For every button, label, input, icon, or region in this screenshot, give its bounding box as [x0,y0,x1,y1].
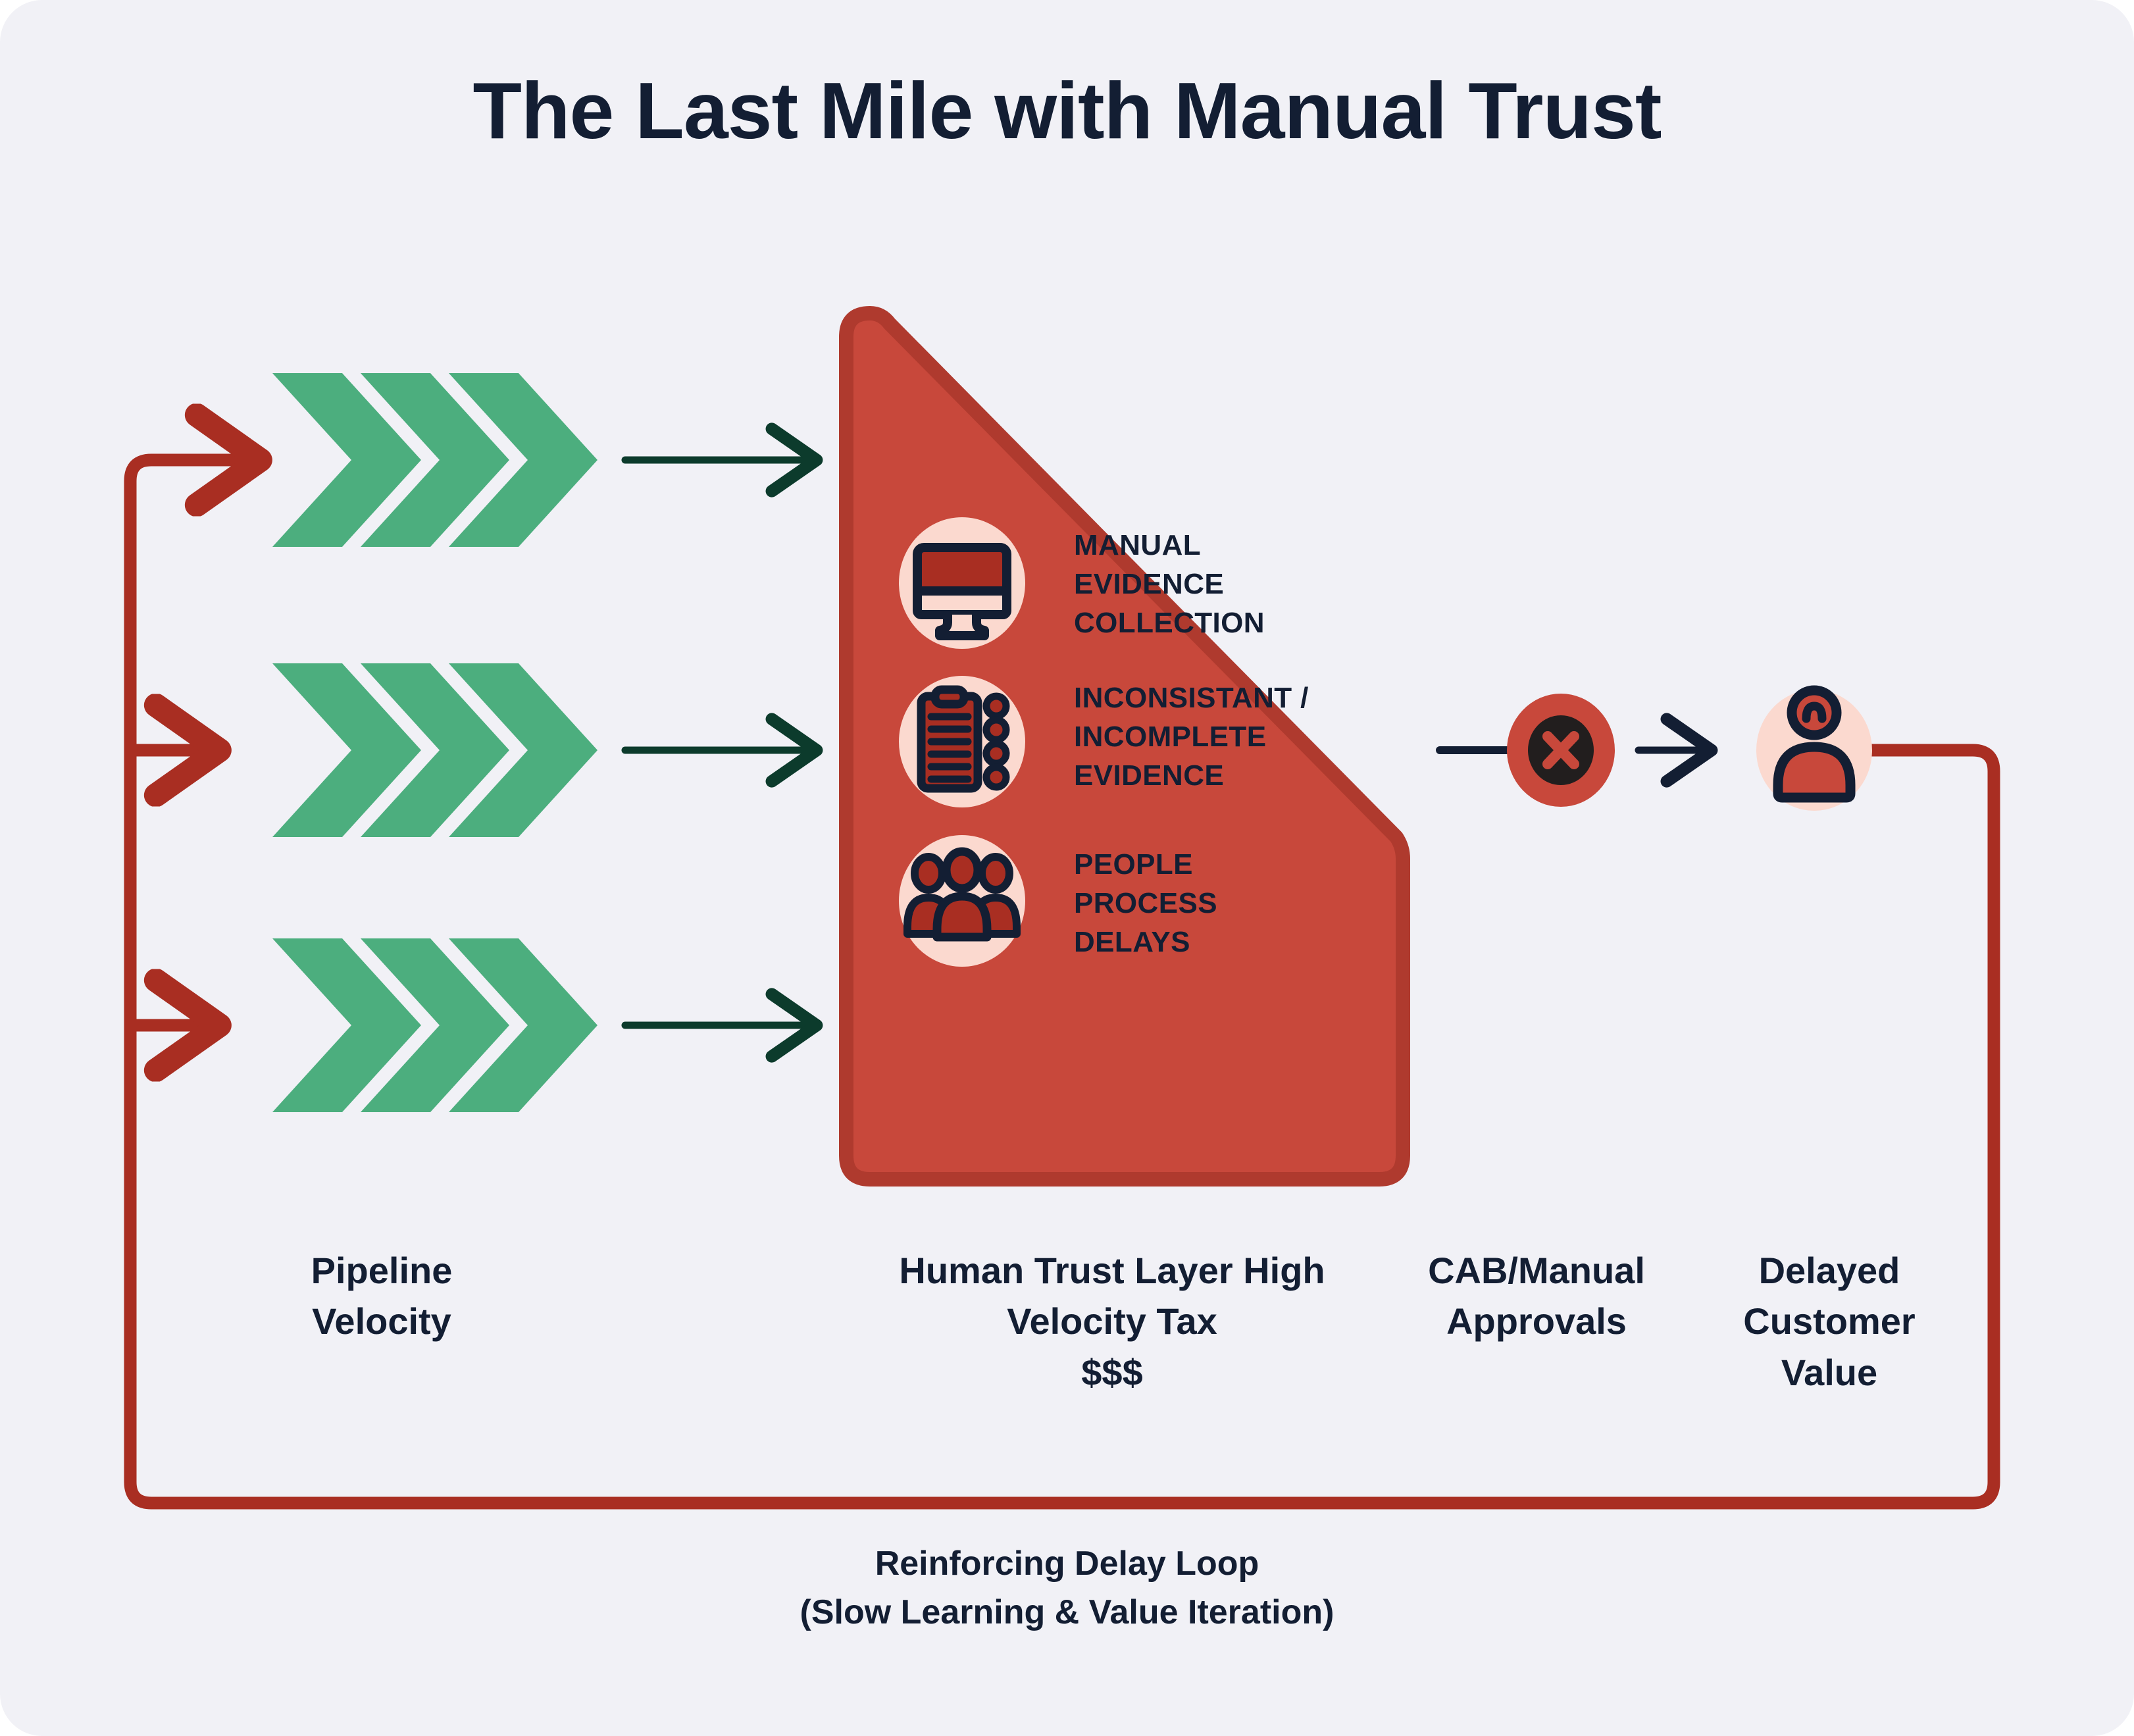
page-title: The Last Mile with Manual Trust [0,68,2134,153]
pipeline-to-funnel-arrows [625,460,816,1025]
chevron-row [272,663,597,837]
x-circle-badge-icon [1507,694,1615,807]
cab-manual-approvals-caption: CAB/Manual Approvals [1388,1245,1685,1347]
reinforcing-delay-loop-caption: Reinforcing Delay Loop (Slow Learning & … [0,1540,2134,1637]
loop-branch-arrows [130,460,258,1025]
people-group-icon [899,835,1025,967]
funnel-item-label-manual-evidence-collection: MANUAL EVIDENCE COLLECTION [1074,526,1265,643]
clipboard-checklist-icon [899,676,1025,807]
pipeline-velocity-caption: Pipeline Velocity [250,1245,513,1347]
funnel-item-label-people-process-delays: PEOPLE PROCESS DELAYS [1074,846,1217,962]
monitor-icon [899,517,1025,649]
delayed-customer-value-caption: Delayed Customer Value [1691,1245,1968,1398]
funnel-item-label-inconsistant-incomplete-evidence: INCONSISTANT / INCOMPLETE EVIDENCE [1074,679,1309,796]
chevron-row [272,373,597,547]
chevron-row [272,938,597,1112]
person-icon [1756,690,1872,811]
human-trust-layer-caption: Human Trust Layer High Velocity Tax $$$ [809,1245,1415,1398]
diagram-canvas: The Last Mile with Manual Trust MANUAL E… [0,0,2134,1736]
pipeline-chevrons [272,373,597,1112]
diagram-graphics [0,0,2134,1736]
